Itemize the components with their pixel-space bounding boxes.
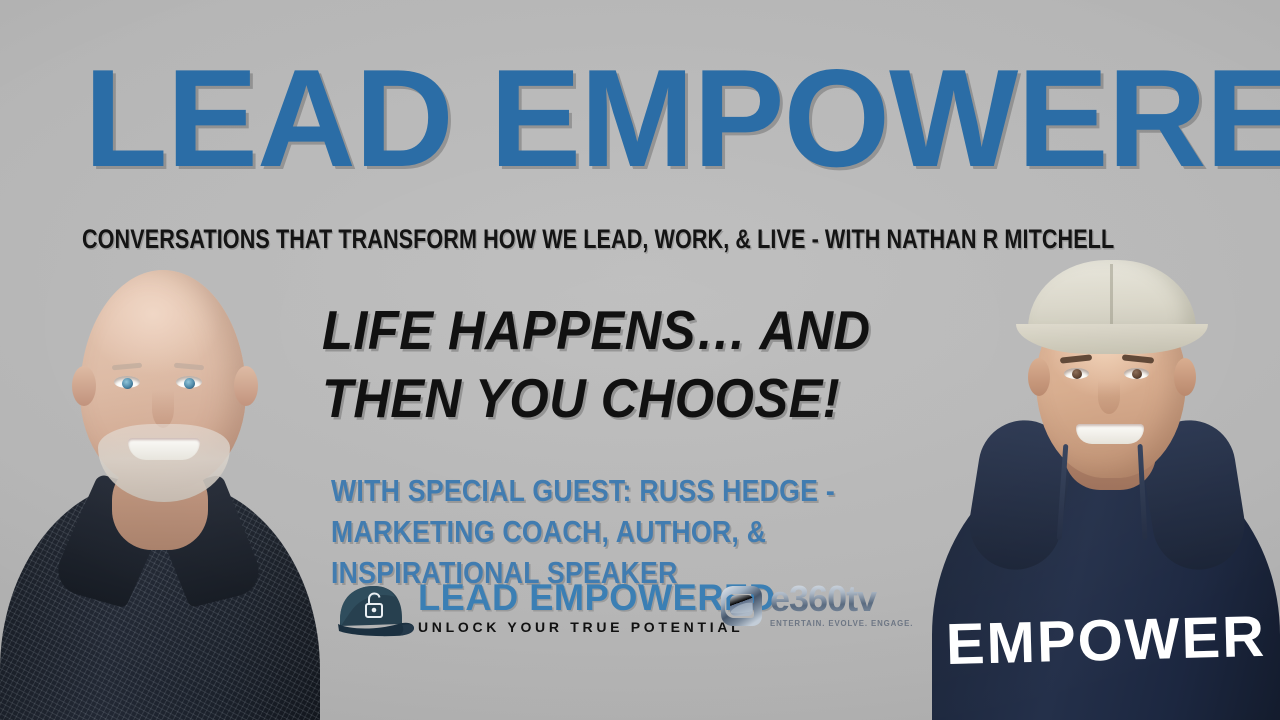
guest-credit: WITH SPECIAL GUEST: RUSS HEDGE - MARKETI… — [331, 470, 916, 593]
e360tv-tagline: ENTERTAIN. EVOLVE. ENGAGE. — [770, 618, 913, 629]
cap-with-padlock-icon — [332, 580, 418, 638]
e360-monogram-icon — [720, 584, 764, 628]
e360tv-logo: e360tv ENTERTAIN. EVOLVE. ENGAGE. — [720, 582, 916, 636]
episode-headline: LIFE HAPPENS… AND THEN YOU CHOOSE! — [322, 296, 957, 432]
e360tv-wordmark: e360tv — [770, 580, 916, 618]
e360tv-text: e360tv ENTERTAIN. EVOLVE. ENGAGE. — [770, 580, 916, 629]
lead-empowered-logo: LEAD EMPOWERED UNLOCK YOUR TRUE POTENTIA… — [332, 578, 698, 640]
show-subtitle: CONVERSATIONS THAT TRANSFORM HOW WE LEAD… — [82, 224, 994, 254]
youtube-thumbnail: EMPOWER LEAD EMPOWERED TV CONVERSATIONS … — [0, 0, 1280, 720]
page-title: LEAD EMPOWERED TV — [84, 48, 1187, 190]
